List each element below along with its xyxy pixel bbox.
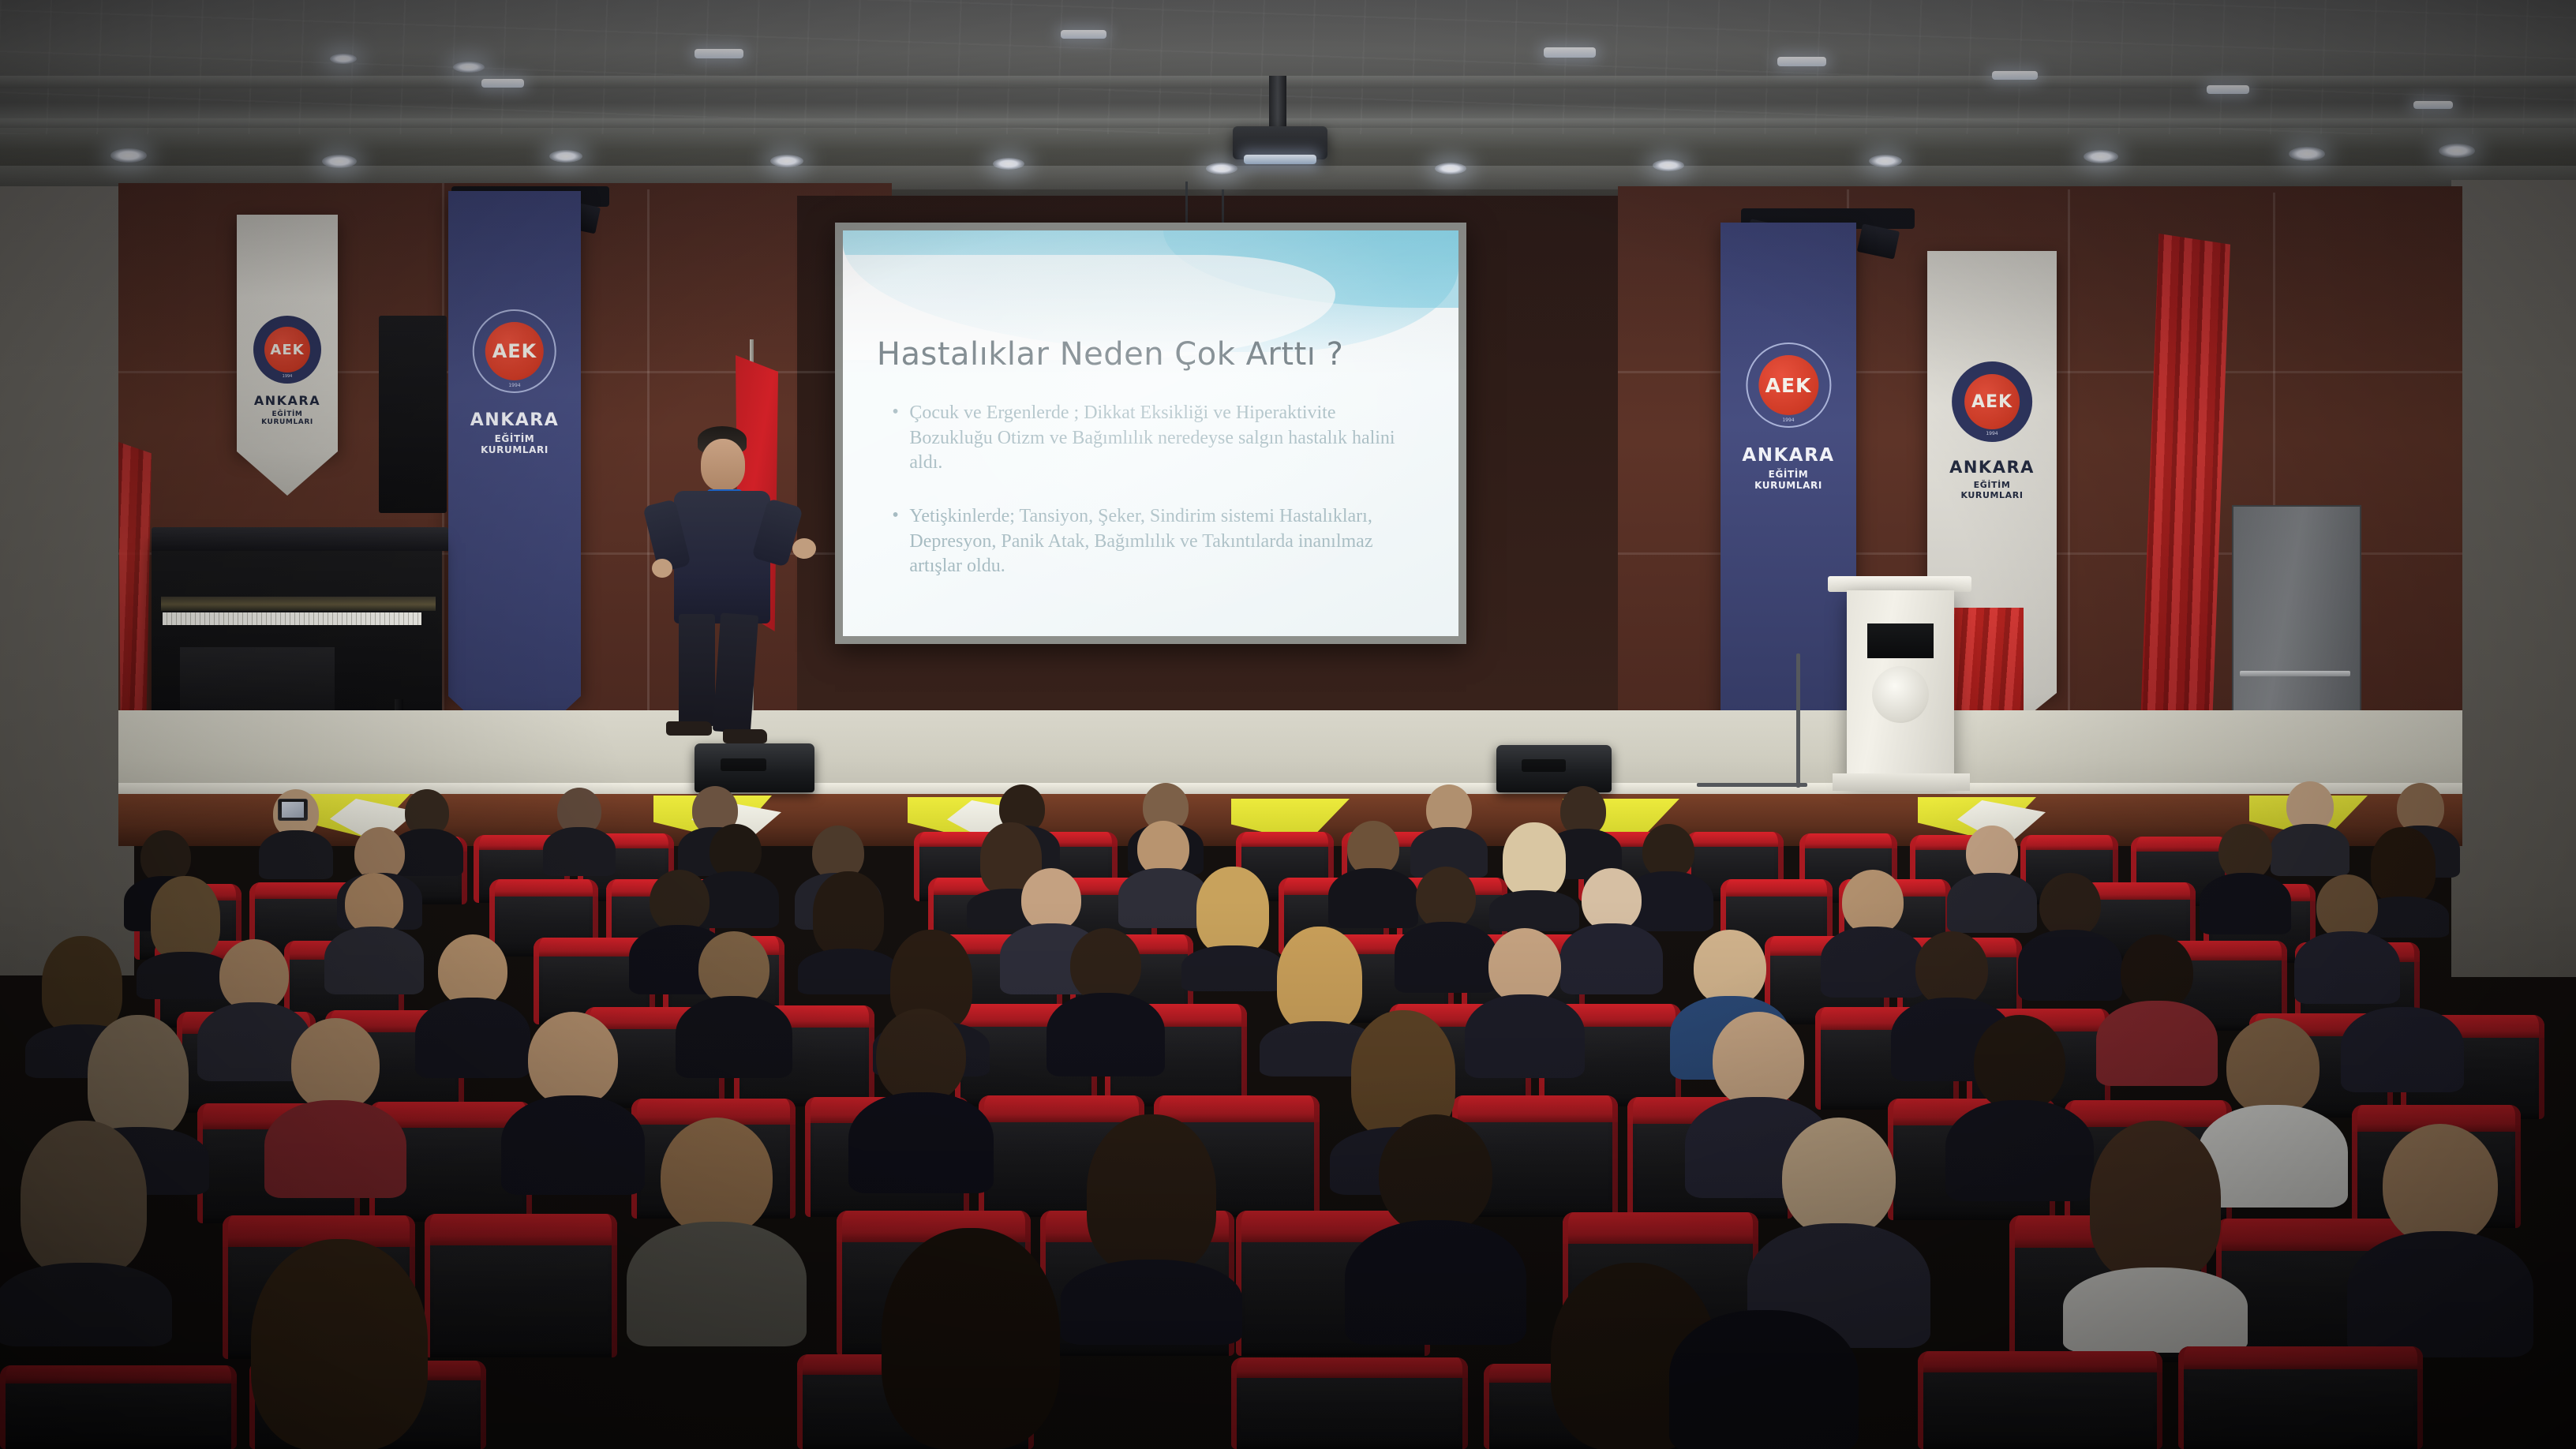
presenter-shoe-left — [666, 721, 712, 736]
presenter-leg-right — [713, 613, 758, 734]
head — [1582, 868, 1642, 931]
banner-left-white: AEK 1994 ANKARA EĞİTİM KURUMLARI — [237, 215, 338, 451]
banner-title: ANKARA — [254, 393, 320, 408]
banner-right-blue: AEK 1994 ANKARA EĞİTİM KURUMLARI — [1720, 223, 1856, 728]
head — [650, 870, 710, 933]
banner-title: ANKARA — [1742, 445, 1834, 466]
head — [291, 1018, 380, 1111]
shoulders — [2200, 873, 2291, 934]
ceiling-beam — [0, 76, 2576, 88]
side-wall-left — [0, 186, 134, 975]
head — [1842, 870, 1904, 934]
projector-mount-pole — [1269, 76, 1286, 128]
piano-lid — [152, 527, 448, 551]
aek-logo-disc: AEK — [485, 322, 544, 380]
shoulders — [543, 827, 616, 876]
podium-nameplate — [1867, 623, 1934, 658]
audience-member — [2352, 1124, 2529, 1353]
aek-logo-disc: AEK — [1964, 374, 2020, 429]
aek-logo-text: AEK — [492, 340, 537, 362]
shoulders — [627, 1222, 807, 1346]
head — [345, 873, 403, 934]
ceiling-downlight — [993, 158, 1024, 170]
podium-emblem — [1872, 666, 1929, 723]
ceiling-striplight — [2413, 101, 2453, 109]
ceiling-downlight — [2439, 144, 2475, 158]
hair — [813, 871, 884, 957]
audience-member — [0, 1121, 167, 1342]
shoulders — [2096, 1001, 2218, 1086]
aek-logo-disc: AEK — [264, 327, 310, 373]
projector-lens — [1244, 155, 1316, 164]
audience-member — [1350, 1114, 1522, 1342]
ceiling-downlight — [1869, 155, 1902, 167]
podium-base — [1833, 773, 1970, 791]
floor-cable — [1697, 783, 1807, 787]
smartphone[interactable] — [278, 799, 308, 821]
hair — [1087, 1114, 1216, 1272]
head — [698, 931, 769, 1005]
presenter-hand-left — [652, 559, 672, 578]
presenter-head — [701, 439, 745, 491]
audience-member — [505, 1012, 641, 1189]
aek-logo-year: 1994 — [283, 374, 293, 379]
ceiling-downlight — [549, 150, 582, 163]
audience-member — [2344, 939, 2461, 1091]
ceiling-downlight — [110, 148, 147, 163]
ceiling-striplight — [1061, 30, 1106, 39]
shoulders — [2341, 1007, 2464, 1092]
head — [1782, 1118, 1896, 1237]
pa-speaker-cabinet — [379, 316, 447, 513]
shoulders — [2063, 1267, 2248, 1353]
ceiling-striplight — [695, 49, 743, 58]
hair — [1503, 822, 1566, 897]
audience-member — [1413, 784, 1485, 876]
audience-member — [268, 1018, 402, 1192]
slide: Hastalıklar Neden Çok Arttı ? Çocuk ve E… — [843, 230, 1458, 636]
projection-screen: Hastalıklar Neden Çok Arttı ? Çocuk ve E… — [843, 230, 1458, 636]
aek-logo-ring: AEK 1994 — [1746, 343, 1831, 428]
hair — [88, 1015, 189, 1138]
aek-logo-text: AEK — [1765, 374, 1812, 397]
shoulders — [1465, 994, 1585, 1078]
podium-cable — [1796, 653, 1800, 788]
head — [1713, 1012, 1804, 1108]
head — [1070, 928, 1141, 1002]
ceiling-downlight — [770, 155, 803, 167]
aek-logo-ring: AEK 1994 — [1952, 361, 2032, 442]
aek-logo-year: 1994 — [1986, 431, 1998, 436]
hair — [251, 1239, 428, 1449]
aek-logo-year: 1994 — [508, 383, 520, 388]
hair — [2090, 1121, 2221, 1280]
podium-top — [1828, 576, 1971, 592]
projection-screen-frame: Hastalıklar Neden Çok Arttı ? Çocuk ve E… — [835, 223, 1466, 644]
door-push-bar[interactable] — [2240, 671, 2350, 676]
ceiling-striplight — [1777, 57, 1826, 66]
head — [219, 939, 289, 1012]
banner-subtitle: EĞİTİM KURUMLARI — [253, 410, 321, 426]
aek-logo-ring: AEK 1994 — [253, 316, 321, 384]
shoulders — [2347, 1231, 2533, 1357]
ceiling-downlight — [453, 62, 485, 73]
shoulders — [264, 1100, 406, 1198]
audience-member — [327, 873, 421, 993]
audience-member — [2202, 824, 2289, 931]
audience-member — [545, 788, 614, 874]
audience-member — [2068, 1121, 2243, 1350]
head — [2316, 874, 2378, 939]
head — [1379, 1114, 1492, 1234]
ceiling-downlight — [2084, 150, 2118, 163]
shoulders — [676, 996, 792, 1078]
head — [876, 1009, 966, 1103]
aek-logo-disc: AEK — [1758, 355, 1818, 415]
ceiling-downlight — [322, 155, 357, 168]
aek-logo-text: AEK — [1971, 392, 2012, 412]
ceiling-downlight — [2289, 147, 2325, 161]
ceiling-downlight — [330, 54, 357, 64]
audience-member — [1673, 1310, 1855, 1449]
bag — [1669, 1310, 1859, 1449]
presenter — [631, 426, 829, 766]
audience-member — [852, 1228, 1089, 1449]
hair — [21, 1121, 147, 1275]
head — [2365, 939, 2439, 1017]
audience-member — [221, 1239, 458, 1449]
shoulders — [0, 1263, 172, 1346]
head — [2226, 1018, 2320, 1116]
phone-screen — [282, 802, 305, 818]
head — [1974, 1015, 2065, 1111]
shoulders — [324, 927, 424, 994]
banner-left-blue: AEK 1994 ANKARA EĞİTİM KURUMLARI — [448, 191, 581, 696]
head — [1915, 931, 1988, 1007]
slide-title: Hastalıklar Neden Çok Arttı ? — [877, 336, 1343, 373]
slide-bullet-list: Çocuk ve Ergenlerde ; Dikkat Eksikliği v… — [892, 401, 1415, 608]
audience-member — [1468, 928, 1582, 1076]
audience-seat[interactable] — [2178, 1346, 2423, 1449]
slide-bullet: Çocuk ve Ergenlerde ; Dikkat Eksikliği v… — [892, 401, 1415, 476]
ceiling-striplight — [481, 79, 524, 88]
ceiling-downlight — [1435, 163, 1466, 174]
aek-logo-ring: AEK 1994 — [473, 309, 556, 393]
audience-member — [631, 1118, 802, 1342]
ceiling-striplight — [2207, 85, 2249, 94]
shoulders — [848, 1092, 994, 1193]
piano-keys[interactable] — [163, 612, 421, 625]
audience-seat[interactable] — [1918, 1351, 2162, 1449]
podium — [1847, 590, 1954, 777]
shoulders — [1345, 1220, 1526, 1345]
ceiling-striplight — [1544, 47, 1596, 58]
head — [528, 1012, 618, 1106]
shoulders — [1046, 993, 1165, 1076]
banner-subtitle: EĞİTİM KURUMLARI — [1742, 469, 1834, 491]
ceiling — [0, 0, 2576, 197]
banner-subtitle: EĞİTİM KURUMLARI — [470, 433, 559, 455]
head — [1021, 868, 1081, 931]
presenter-shoe-right — [723, 729, 767, 743]
audience-member — [1050, 928, 1162, 1075]
banner-title: ANKARA — [1949, 458, 2035, 477]
audience-seat[interactable] — [0, 1365, 237, 1449]
head — [2121, 934, 2193, 1010]
audience-member — [1065, 1114, 1237, 1342]
presenter-leg-left — [679, 614, 715, 726]
audience-member — [679, 931, 789, 1075]
shoulders — [259, 830, 333, 879]
hair — [882, 1228, 1060, 1449]
stage-monitor-speaker — [1496, 745, 1612, 792]
ceiling-downlight — [1206, 163, 1237, 174]
audience-member — [852, 1009, 990, 1187]
presenter-hand-right — [792, 538, 816, 559]
audience-seat[interactable] — [1231, 1357, 1468, 1449]
head — [1488, 928, 1561, 1004]
slide-bullet: Yetişkinlerde; Tansiyon, Şeker, Sindirim… — [892, 504, 1415, 579]
ceiling-striplight — [1992, 71, 2038, 80]
stage-curtain-left — [118, 442, 152, 726]
auditorium-photo: Hastalıklar Neden Çok Arttı ? Çocuk ve E… — [0, 0, 2576, 1449]
side-wall-right — [2451, 180, 2576, 977]
banner-subtitle: EĞİTİM KURUMLARI — [1949, 480, 2035, 500]
aek-logo-year: 1994 — [1782, 417, 1794, 423]
banner-title: ANKARA — [470, 410, 559, 430]
head — [1416, 867, 1476, 930]
audience-member — [2099, 934, 2215, 1084]
hair — [1196, 867, 1269, 953]
ceiling-downlight — [1653, 159, 1684, 171]
head — [2383, 1124, 2498, 1245]
aek-logo-text: AEK — [270, 342, 304, 358]
ceiling-tile-grid — [0, 0, 2576, 134]
piano-fallboard — [161, 597, 436, 611]
head — [1694, 930, 1766, 1005]
shoulders — [501, 1095, 645, 1195]
head — [2039, 873, 2101, 938]
head — [661, 1118, 773, 1236]
head — [438, 934, 507, 1007]
